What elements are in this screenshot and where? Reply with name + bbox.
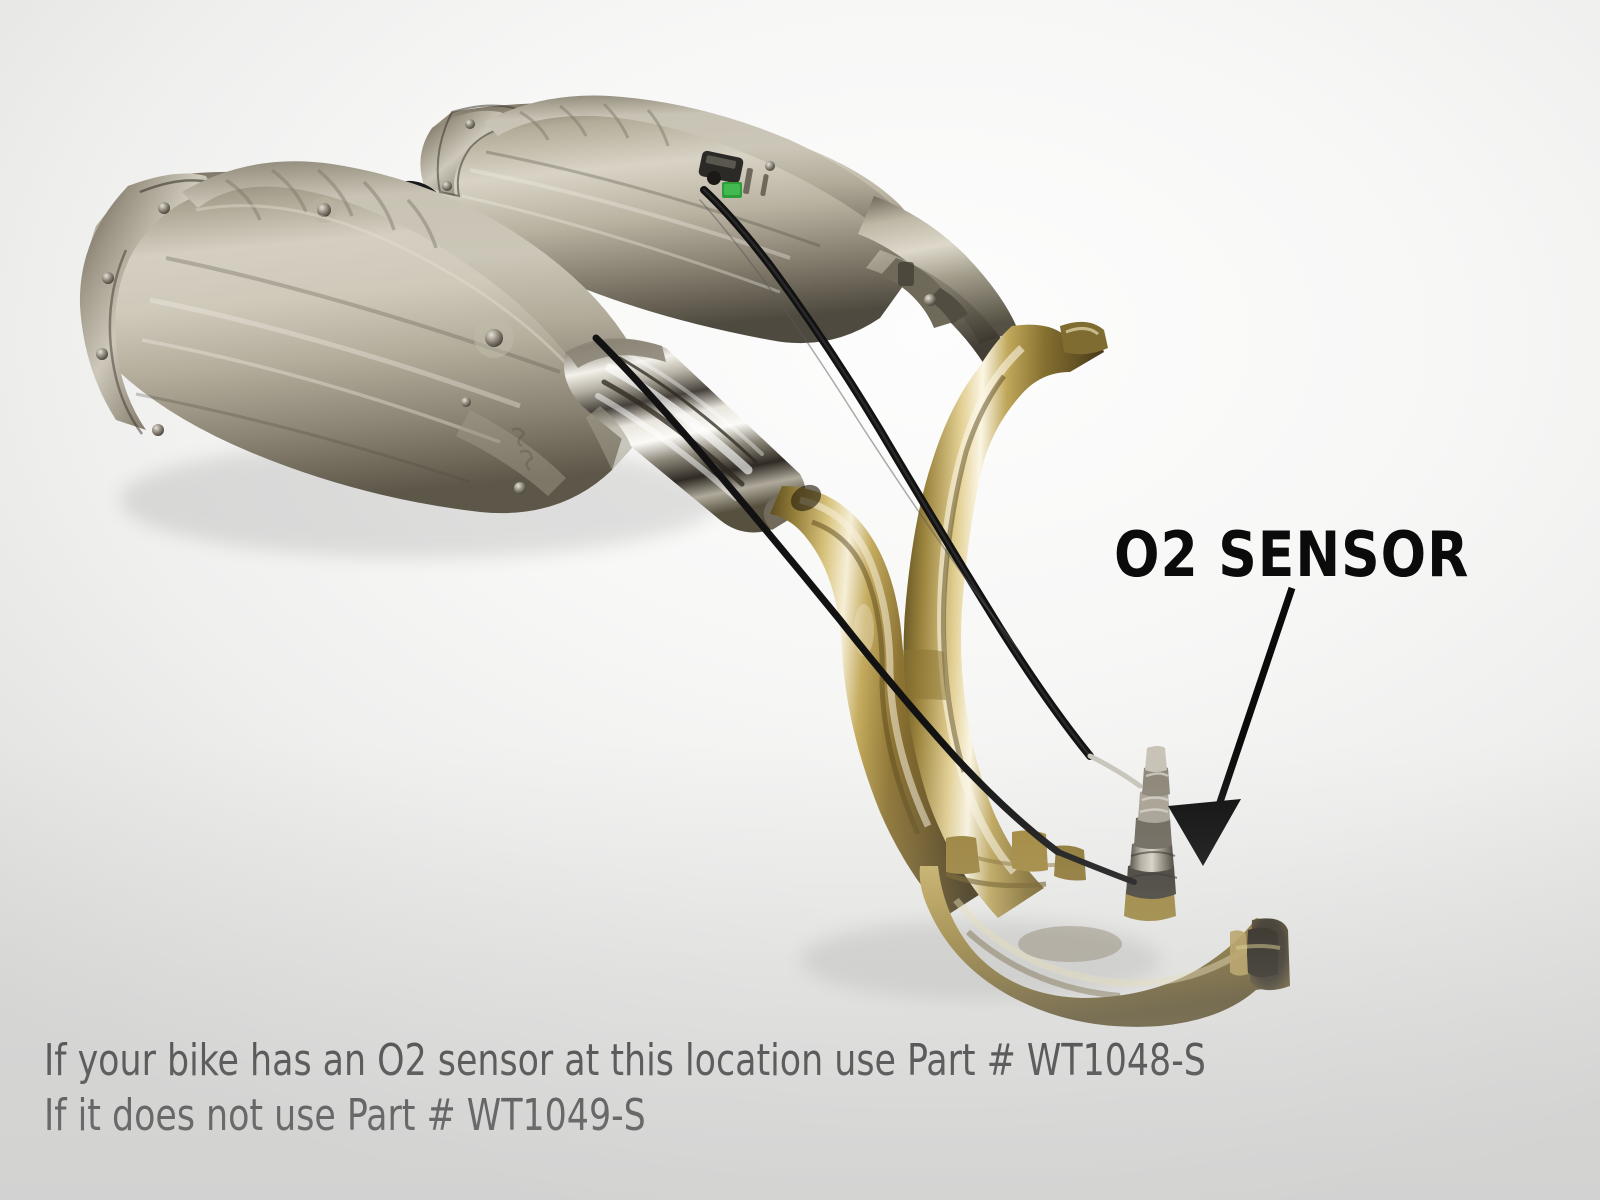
caption-line-2: If it does not use Part # WT1049-S bbox=[44, 1090, 646, 1141]
o2-sensor-callout-label: O2 SENSOR bbox=[1114, 518, 1469, 591]
callout-arrow bbox=[1168, 588, 1292, 866]
annotation-overlay bbox=[0, 0, 1600, 1200]
caption-line-1: If your bike has an O2 sensor at this lo… bbox=[44, 1035, 1206, 1086]
image-canvas: O2 SENSOR If your bike has an O2 sensor … bbox=[0, 0, 1600, 1200]
